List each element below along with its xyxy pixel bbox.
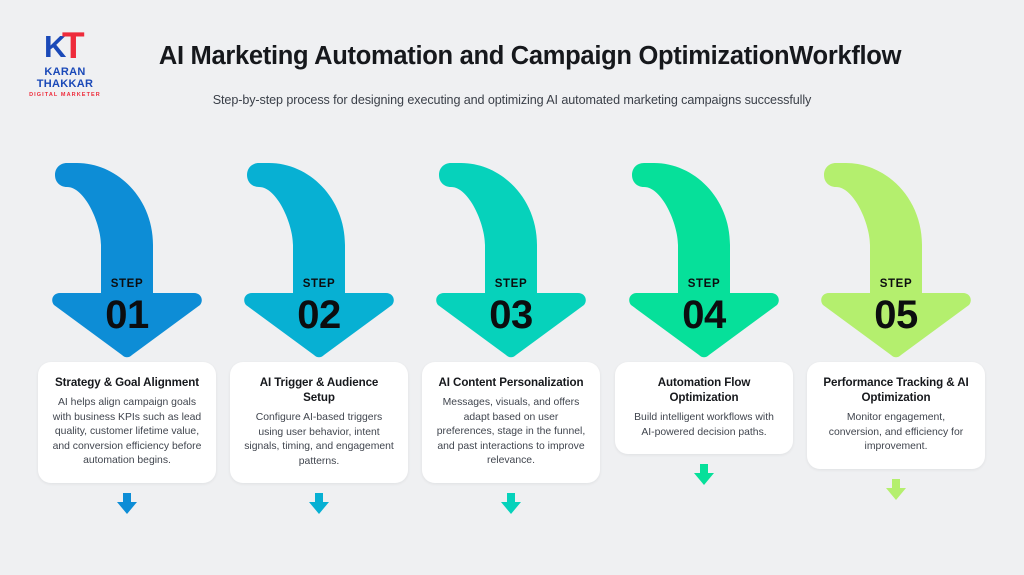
page-subtitle: Step-by-step process for designing execu… <box>0 93 1024 107</box>
step-number-01: 01 <box>31 292 223 338</box>
step-connector-arrow-icon-04 <box>689 462 719 488</box>
step-arrow-02: STEP 02 <box>223 150 415 360</box>
step-number-03: 03 <box>415 292 607 338</box>
step-card-body-01: AI helps align campaign goals with busin… <box>51 396 203 469</box>
step-card-title-04: Automation Flow Optimization <box>628 375 780 405</box>
workflow-steps: STEP 01 Strategy & Goal Alignment AI hel… <box>0 150 1024 550</box>
step-label-02: STEP <box>223 278 415 290</box>
step-connector-arrow-icon-01 <box>112 491 142 517</box>
step-connector-arrow-icon-03 <box>496 491 526 517</box>
workflow-step-01[interactable]: STEP 01 Strategy & Goal Alignment AI hel… <box>31 150 223 517</box>
header: K T KARAN THAKKAR DIGITAL MARKETER AI Ma… <box>0 0 1024 130</box>
step-card-05[interactable]: Performance Tracking & AI Optimization M… <box>807 362 985 469</box>
step-arrow-05: STEP 05 <box>800 150 992 360</box>
step-card-01[interactable]: Strategy & Goal Alignment AI helps align… <box>38 362 216 483</box>
workflow-step-03[interactable]: STEP 03 AI Content Personalization Messa… <box>415 150 607 517</box>
step-label-03: STEP <box>415 278 607 290</box>
step-arrow-03: STEP 03 <box>415 150 607 360</box>
step-card-title-02: AI Trigger & Audience Setup <box>243 375 395 405</box>
step-number-04: 04 <box>608 292 800 338</box>
step-card-body-05: Monitor engagement, conversion, and effi… <box>820 411 972 455</box>
step-card-body-02: Configure AI-based triggers using user b… <box>243 411 395 469</box>
step-card-title-01: Strategy & Goal Alignment <box>51 375 203 390</box>
step-card-body-03: Messages, visuals, and offers adapt base… <box>435 396 587 469</box>
step-label-05: STEP <box>800 278 992 290</box>
step-card-title-03: AI Content Personalization <box>435 375 587 390</box>
workflow-step-02[interactable]: STEP 02 AI Trigger & Audience Setup Conf… <box>223 150 415 517</box>
step-card-03[interactable]: AI Content Personalization Messages, vis… <box>422 362 600 483</box>
step-card-body-04: Build intelligent workflows with AI-powe… <box>628 411 780 440</box>
step-card-title-05: Performance Tracking & AI Optimization <box>820 375 972 405</box>
step-number-02: 02 <box>223 292 415 338</box>
step-card-02[interactable]: AI Trigger & Audience Setup Configure AI… <box>230 362 408 483</box>
step-number-05: 05 <box>800 292 992 338</box>
workflow-step-04[interactable]: STEP 04 Automation Flow Optimization Bui… <box>608 150 800 488</box>
step-arrow-01: STEP 01 <box>31 150 223 360</box>
step-arrow-04: STEP 04 <box>608 150 800 360</box>
workflow-step-05[interactable]: STEP 05 Performance Tracking & AI Optimi… <box>800 150 992 503</box>
step-label-01: STEP <box>31 278 223 290</box>
step-connector-arrow-icon-05 <box>881 477 911 503</box>
step-connector-arrow-icon-02 <box>304 491 334 517</box>
page-title: AI Marketing Automation and Campaign Opt… <box>0 42 1024 71</box>
step-card-04[interactable]: Automation Flow Optimization Build intel… <box>615 362 793 454</box>
step-label-04: STEP <box>608 278 800 290</box>
